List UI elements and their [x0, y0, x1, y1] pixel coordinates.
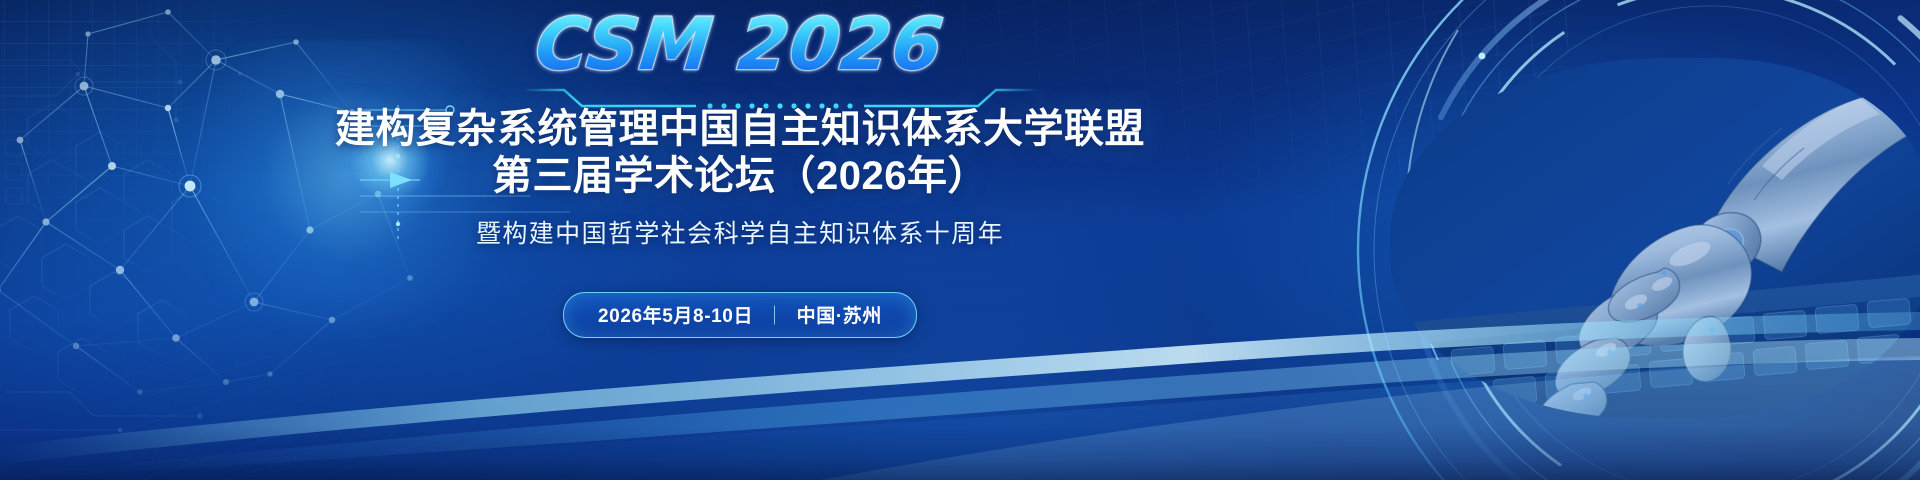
heading-line-2: 第三届学术论坛（2026年）	[0, 153, 1480, 200]
banner-content: CSM 2026 CSM 2026	[0, 0, 1920, 480]
date-location-badge: 2026年5月8-10日 ｜ 中国·苏州	[563, 292, 917, 338]
event-location: 中国·苏州	[797, 301, 882, 328]
heading-line-1: 建构复杂系统管理中国自主知识体系大学联盟	[0, 106, 1480, 153]
conference-banner: CSM 2026 CSM 2026	[0, 0, 1920, 480]
event-date: 2026年5月8-10日	[598, 301, 753, 328]
badge-separator: ｜	[765, 301, 785, 328]
subtitle: 暨构建中国哲学社会科学自主知识体系十周年	[0, 217, 1480, 251]
event-title: CSM 2026	[533, 8, 948, 80]
badge-container: 2026年5月8-10日 ｜ 中国·苏州	[0, 292, 1480, 338]
event-title-block: CSM 2026 CSM 2026	[0, 8, 1480, 80]
heading-block: 建构复杂系统管理中国自主知识体系大学联盟 第三届学术论坛（2026年） 暨构建中…	[0, 106, 1480, 251]
